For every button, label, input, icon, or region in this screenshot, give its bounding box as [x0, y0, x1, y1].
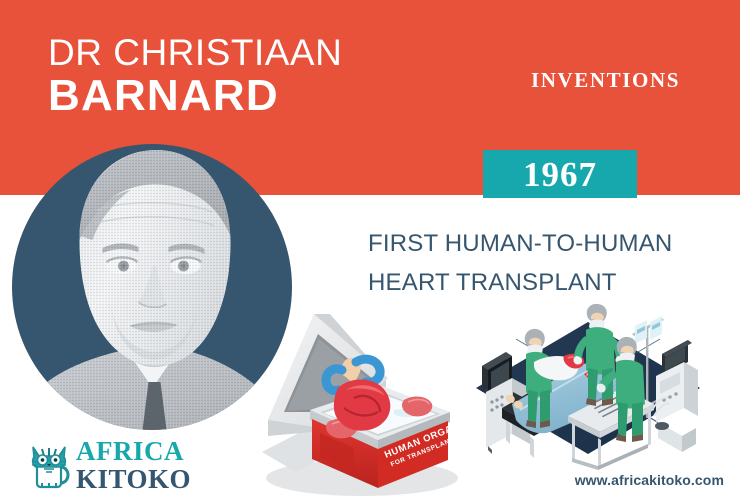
description-line-1: FIRST HUMAN-TO-HUMAN	[368, 224, 718, 263]
logo-word-africa: AFRICA	[76, 437, 191, 465]
logo-wordmark: AFRICA KITOKO	[76, 437, 191, 494]
poster-canvas: DR CHRISTIAAN BARNARD INVENTIONS 1967 FI…	[0, 0, 740, 500]
ventilator-machine	[652, 340, 698, 452]
website-url[interactable]: www.africakitoko.com	[575, 472, 724, 488]
operating-room-illustration	[472, 300, 704, 476]
cat-mascot-icon	[26, 439, 72, 489]
category-label: INVENTIONS	[531, 68, 680, 93]
title-line-2: BARNARD	[48, 72, 342, 120]
brand-logo[interactable]: AFRICA KITOKO	[26, 437, 216, 495]
year-badge-label: 1967	[523, 157, 597, 192]
logo-word-kitoko: KITOKO	[76, 465, 191, 494]
year-badge: 1967	[483, 150, 637, 198]
title-line-1: DR CHRISTIAAN	[48, 32, 342, 74]
page-title: DR CHRISTIAAN BARNARD	[48, 32, 342, 120]
portrait-photo	[45, 144, 260, 430]
portrait-circle	[12, 144, 292, 430]
organ-cooler-illustration: HUMAN ORGAN FOR TRANSPLANT	[254, 292, 464, 500]
achievement-description: FIRST HUMAN-TO-HUMAN HEART TRANSPLANT	[368, 224, 718, 302]
